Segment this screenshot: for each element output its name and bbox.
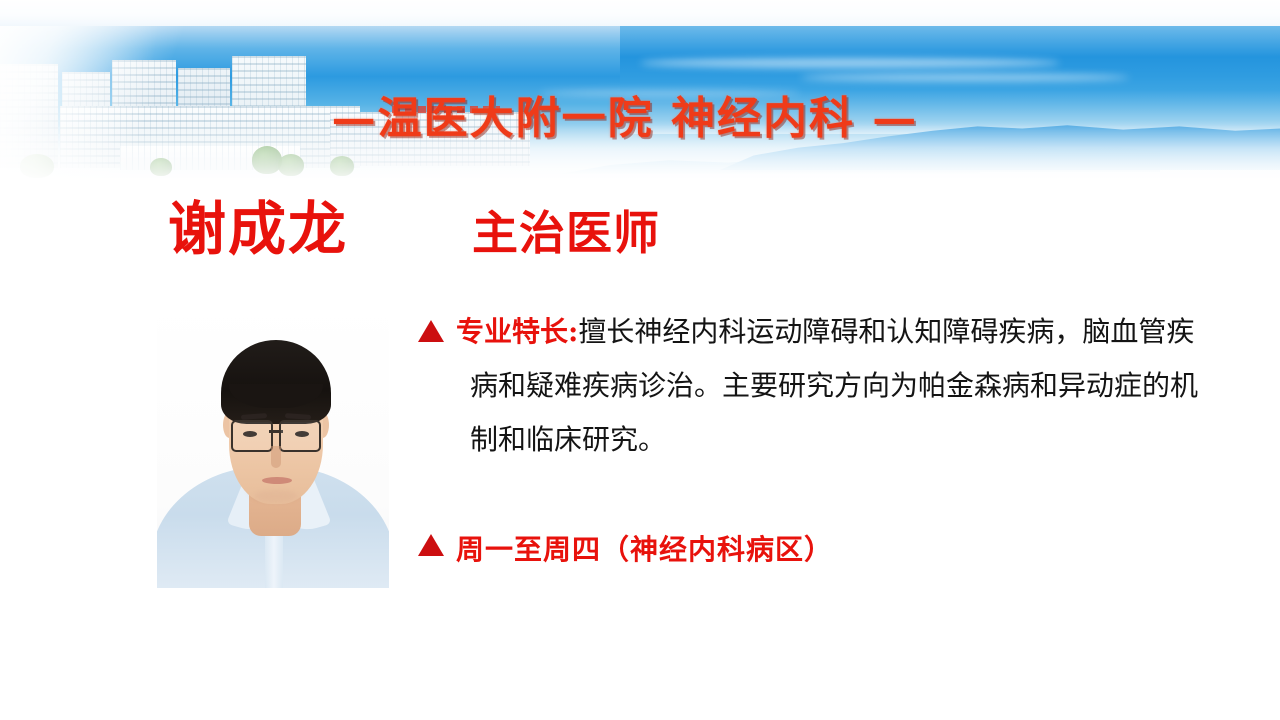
header-banner: —温医大附一院 神经内科 — [0, 0, 1280, 178]
specialty-paragraph: 专业特长:擅长神经内科运动障碍和认知障碍疾病，脑血管疾病和疑难疾病诊治。主要研究… [418, 305, 1210, 467]
schedule-block: 周一至周四（神经内科病区） [418, 528, 1178, 568]
glasses-lens-right [279, 420, 321, 452]
cloud-wisp [800, 74, 1130, 81]
portrait-nose [271, 446, 281, 468]
triangle-bullet-icon [418, 534, 444, 556]
specialty-block: 专业特长:擅长神经内科运动障碍和认知障碍疾病，脑血管疾病和疑难疾病诊治。主要研究… [418, 305, 1178, 467]
doctor-professional-title: 主治医师 [472, 210, 660, 256]
portrait-mouth [262, 477, 292, 484]
doctor-portrait-photo [157, 300, 389, 588]
glasses-lens-left [231, 420, 273, 452]
specialty-body: 擅长神经内科运动障碍和认知障碍疾病，脑血管疾病和疑难疾病诊治。主要研究方向为帕金… [470, 315, 1198, 456]
portrait-chin-shadow [255, 490, 297, 502]
cloud-wisp [640, 58, 1060, 68]
doctor-name: 谢成龙 [168, 200, 348, 258]
banner-top-strip [0, 0, 1280, 26]
schedule-text: 周一至周四（神经内科病区） [456, 533, 833, 566]
triangle-bullet-icon [418, 320, 444, 342]
specialty-label: 专业特长: [456, 315, 578, 348]
banner-title: —温医大附一院 神经内科 — [0, 82, 1280, 146]
doctor-profile-slide: —温医大附一院 神经内科 — 谢成龙 主治医师 专业特长:擅长神经内 [0, 0, 1280, 720]
